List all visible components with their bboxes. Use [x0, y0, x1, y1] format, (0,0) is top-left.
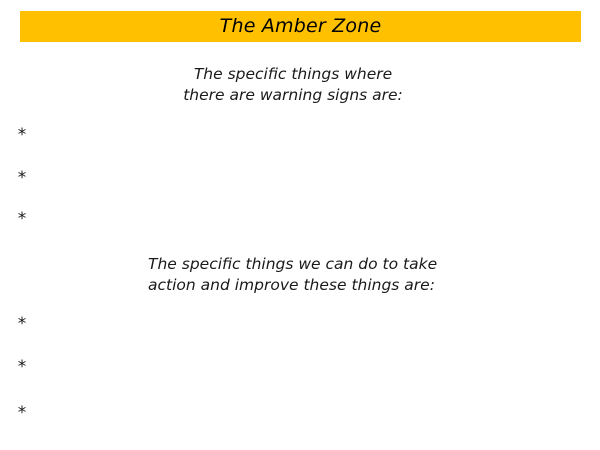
bullet-asterisk-action-1: *	[15, 316, 29, 333]
slide-canvas: The Amber Zone The specific things where…	[0, 0, 600, 450]
prompt-warning-signs: The specific things where there are warn…	[93, 64, 493, 106]
prompt-take-action: The specific things we can do to take ac…	[148, 254, 568, 296]
bullet-asterisk-action-3: *	[15, 405, 29, 422]
bullet-asterisk-warning-2: *	[15, 170, 29, 187]
bullet-asterisk-warning-3: *	[15, 211, 29, 228]
title-banner: The Amber Zone	[20, 11, 581, 42]
bullet-asterisk-warning-1: *	[15, 127, 29, 144]
page-title: The Amber Zone	[220, 17, 382, 36]
bullet-asterisk-action-2: *	[15, 359, 29, 376]
